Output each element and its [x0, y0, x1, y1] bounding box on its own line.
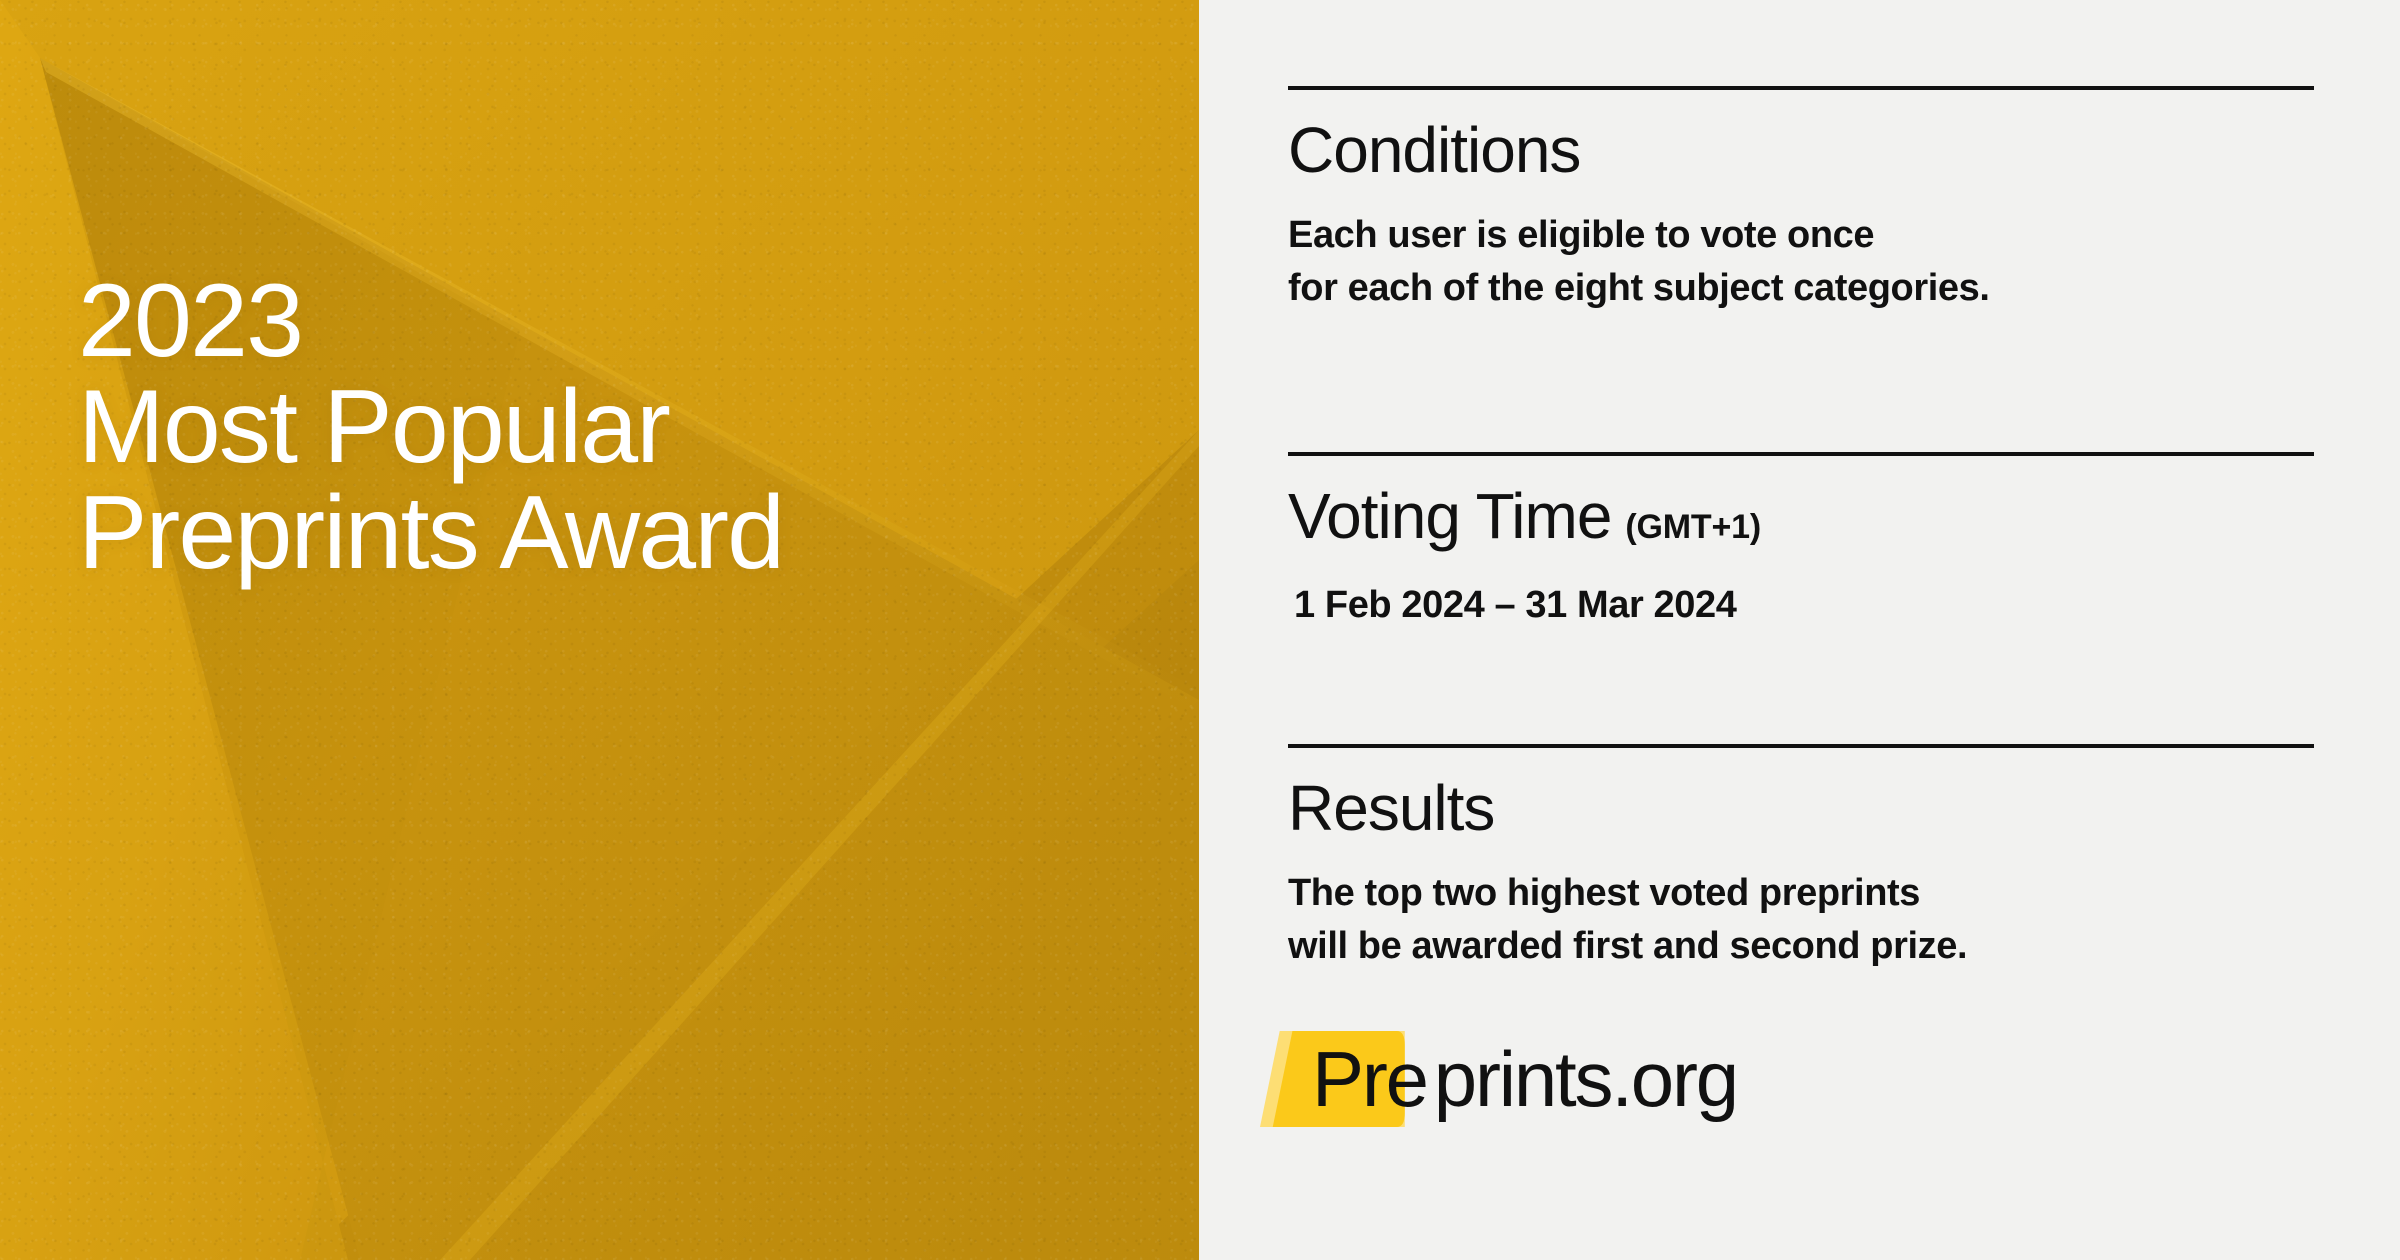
section-body-results: The top two highest voted preprints will…	[1288, 867, 2314, 973]
section-heading-conditions: Conditions	[1288, 116, 2314, 185]
section-divider-voting-time	[1288, 452, 2314, 456]
section-body-voting-time: 1 Feb 2024 – 31 Mar 2024	[1288, 579, 2314, 632]
section-results: Results The top two highest voted prepri…	[1288, 744, 2314, 973]
folded-paper-illustration	[0, 0, 1199, 1260]
award-banner: 2023 Most Popular Preprints Award Condit…	[0, 0, 2400, 1260]
body-line: The top two highest voted preprints	[1288, 867, 2314, 920]
section-heading-results: Results	[1288, 774, 2314, 843]
section-heading-text: Results	[1288, 774, 1494, 843]
award-title-line-year: 2023	[78, 268, 783, 374]
award-title: 2023 Most Popular Preprints Award	[78, 268, 783, 586]
section-voting-time: Voting Time (GMT+1) 1 Feb 2024 – 31 Mar …	[1288, 452, 2314, 632]
preprints-logo[interactable]: Pre prints.org	[1288, 1024, 1737, 1134]
section-heading-voting-time: Voting Time (GMT+1)	[1288, 482, 2314, 551]
section-divider-results	[1288, 744, 2314, 748]
voting-date-range: 1 Feb 2024 – 31 Mar 2024	[1294, 579, 2314, 632]
logo-text-rest: prints.org	[1434, 1031, 1737, 1127]
info-panel: Conditions Each user is eligible to vote…	[1199, 0, 2400, 1260]
body-line: will be awarded first and second prize.	[1288, 920, 2314, 973]
award-title-line-2: Preprints Award	[78, 480, 783, 586]
timezone-note: (GMT+1)	[1625, 509, 1761, 546]
body-line: Each user is eligible to vote once	[1288, 209, 2314, 262]
section-body-conditions: Each user is eligible to vote once for e…	[1288, 209, 2314, 315]
section-heading-text: Voting Time	[1288, 482, 1611, 551]
preprints-logo-mark: Pre	[1288, 1031, 1433, 1127]
body-line: for each of the eight subject categories…	[1288, 262, 2314, 315]
artwork-panel: 2023 Most Popular Preprints Award	[0, 0, 1199, 1260]
logo-text-pre: Pre	[1288, 1031, 1433, 1127]
award-title-line-1: Most Popular	[78, 374, 783, 480]
section-conditions: Conditions Each user is eligible to vote…	[1288, 86, 2314, 315]
section-heading-text: Conditions	[1288, 116, 1580, 185]
section-divider-conditions	[1288, 86, 2314, 90]
